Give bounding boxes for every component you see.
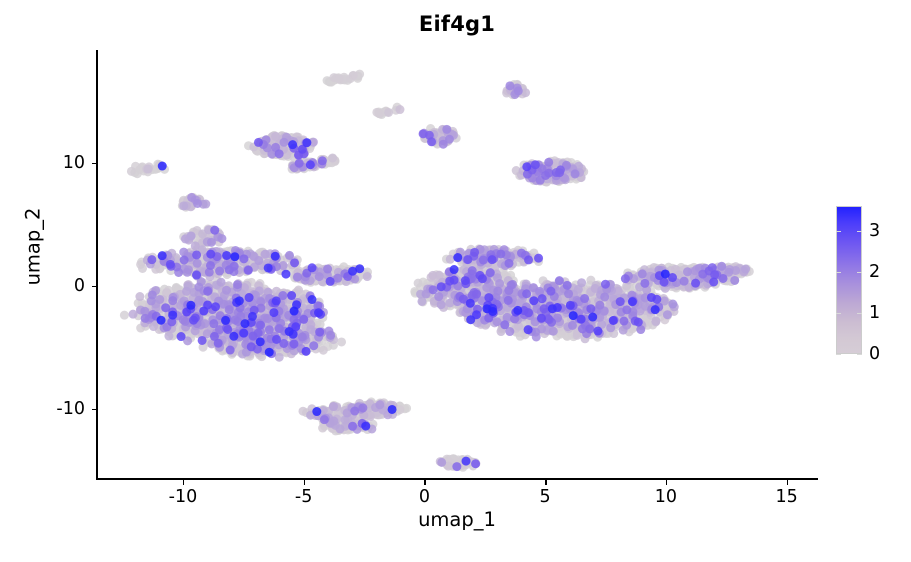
x-tick-label: 15 [775,487,797,507]
colorbar-tick-mark [836,354,841,355]
x-tick-label: 10 [655,487,677,507]
y-tick-label: 10 [63,153,85,173]
y-tick-mark [92,409,97,410]
x-tick-mark [424,480,425,485]
y-tick-mark [92,286,97,287]
y-tick-label: 0 [74,276,85,296]
x-tick-mark [183,480,184,485]
page-title: Eif4g1 [96,12,818,36]
y-axis-spine [96,50,98,480]
colorbar-tick-label: 0 [869,344,880,364]
x-tick-mark [545,480,546,485]
colorbar-tick-mark [857,272,862,273]
umap-feature-plot-figure: Eif4g1 -10-5051015 -10010 umap_1 umap_2 … [0,0,911,562]
colorbar-tick-mark [857,313,862,314]
x-tick-mark [666,480,667,485]
colorbar-tick-mark [836,231,841,232]
x-tick-mark [304,480,305,485]
x-tick-label: -5 [295,487,312,507]
x-tick-label: 5 [540,487,551,507]
colorbar-tick-mark [857,231,862,232]
y-axis-label: umap_2 [22,152,45,342]
colorbar-border [836,206,862,354]
x-tick-label: -10 [169,487,198,507]
colorbar-tick-mark [857,354,862,355]
x-tick-label: 0 [419,487,430,507]
x-axis-spine [96,478,818,480]
plot-axes-area: -10-5051015 -10010 [96,50,818,480]
expression-colorbar [836,206,862,354]
y-tick-label: -10 [56,399,85,419]
x-axis-label: umap_1 [96,508,818,531]
colorbar-tick-label: 3 [869,221,880,241]
x-tick-mark [787,480,788,485]
colorbar-tick-label: 2 [869,262,880,282]
colorbar-tick-label: 1 [869,303,880,323]
y-tick-mark [92,163,97,164]
colorbar-tick-mark [836,272,841,273]
scatter-plot-canvas [96,50,818,480]
colorbar-tick-mark [836,313,841,314]
